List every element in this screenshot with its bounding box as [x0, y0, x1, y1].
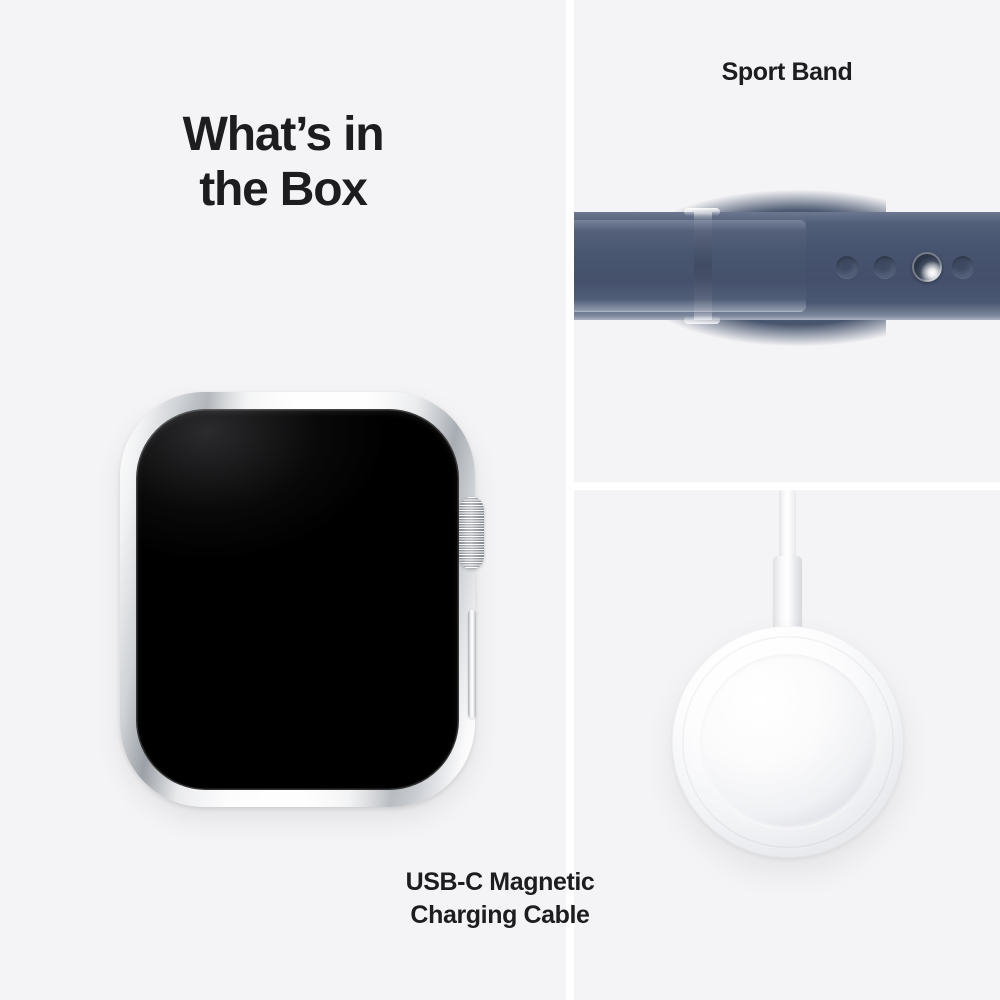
band-pin-icon [912, 252, 942, 282]
band-loop-edge-bottom [684, 316, 720, 324]
caption-charging-cable-line-2: Charging Cable [0, 899, 1000, 932]
caption-charging-cable: USB-C Magnetic Charging Cable [0, 866, 1000, 933]
digital-crown-icon [459, 497, 484, 569]
digital-crown-wrap [110, 497, 485, 569]
product-gallery: What’s in the Box Sport Band [0, 0, 1000, 1000]
cable-collar [773, 556, 802, 634]
page-title: What’s in the Box [0, 108, 566, 217]
page-title-line-2: the Box [0, 163, 566, 218]
page-title-line-1: What’s in [0, 108, 566, 163]
band-hole [952, 256, 974, 278]
charger-puck-face [700, 654, 876, 830]
band-hole [874, 256, 896, 278]
panel-sport-band[interactable]: Sport Band [574, 0, 1000, 482]
side-button-icon [468, 610, 476, 718]
watch-display [136, 409, 459, 790]
band-hole [836, 256, 858, 278]
band-strap-short [574, 220, 806, 312]
apple-watch-image [110, 392, 485, 807]
panel-whats-in-the-box[interactable]: What’s in the Box [0, 0, 566, 1000]
band-tuck-loop [694, 212, 712, 320]
sport-band-image [574, 0, 1000, 482]
caption-charging-cable-line-1: USB-C Magnetic [0, 866, 1000, 899]
